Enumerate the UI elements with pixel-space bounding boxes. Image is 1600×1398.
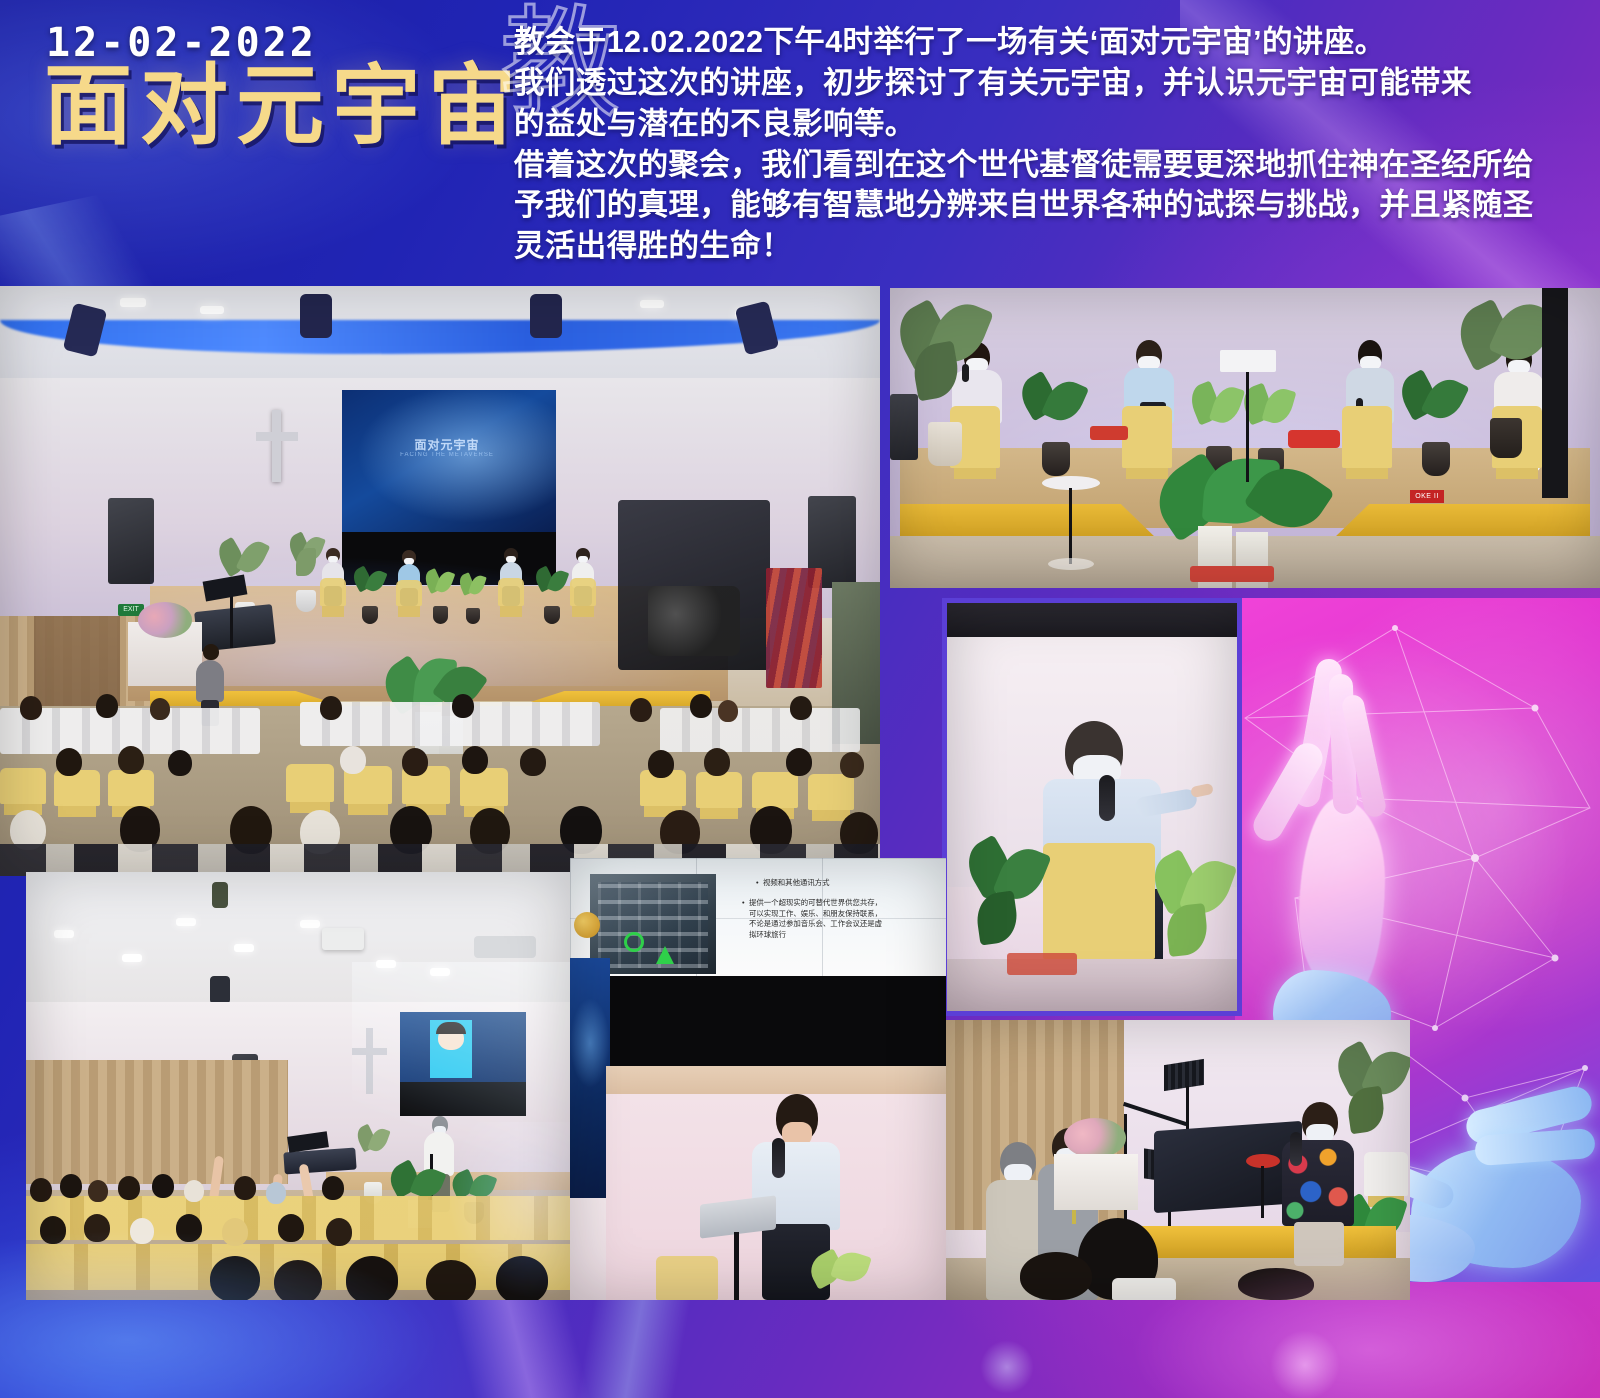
potted-plant-foreground (810, 1252, 880, 1300)
audience-rows (0, 686, 880, 876)
flower-arrangement (138, 602, 192, 638)
stage-light-fixture (210, 976, 230, 1004)
photo-congregation-hands-up: EXIT (26, 872, 570, 1300)
cross-wall-decor (366, 1028, 373, 1094)
cross-wall-decor-bar (352, 1048, 387, 1055)
led-screen-title: 面对元宇宙 (372, 436, 522, 453)
ceiling-light (234, 944, 254, 952)
red-bench (1190, 566, 1274, 582)
drum-kit (648, 586, 740, 656)
slide-thumb-shelves (598, 882, 708, 968)
screen-black-band (606, 976, 946, 1066)
black-pillar (1542, 288, 1568, 498)
blurb-line-6: 灵活出得胜的生命！ (514, 226, 1584, 267)
slide-bullet-2: •提供一个超现实的可替代世界供您共存，可以实现工作、娱乐、和朋友保持联系，不论是… (742, 898, 942, 940)
potted-monstera-1 (1022, 376, 1088, 476)
panel-chair (1342, 406, 1392, 468)
red-cloth (1007, 953, 1077, 975)
ceiling-light (120, 298, 146, 307)
slide-coin-icon (574, 912, 600, 938)
stool-leg (1261, 1166, 1264, 1218)
cross-wall-decor-bar (256, 432, 298, 441)
stage-chair (570, 578, 596, 606)
speaker-stage-floor (947, 959, 1237, 1016)
mic-stand-plate (1220, 350, 1276, 372)
cross-wall-decor (272, 410, 281, 482)
ceiling-light (640, 300, 664, 308)
wall-warm (606, 1066, 946, 1096)
microphone (1290, 1132, 1302, 1166)
projector (322, 928, 364, 950)
stage-light-fixture (300, 294, 332, 338)
floor-label-badge: OKE II (1410, 490, 1444, 503)
dark-screen-band (947, 603, 1237, 637)
congregation (26, 1152, 570, 1300)
ceiling-light (122, 954, 142, 962)
flags (766, 568, 822, 688)
microphone (772, 1138, 785, 1178)
speaker-chair (1043, 843, 1155, 959)
floor-lamp-pole (1069, 488, 1072, 564)
slide-thumb-green-ring (624, 932, 644, 952)
ceiling-light (430, 968, 450, 976)
ceiling-light (300, 920, 320, 928)
photo-hall-wide: 面对元宇宙 FACING THE METAVERSE EXIT (0, 286, 880, 876)
page-title: 面对元宇宙 (44, 60, 524, 152)
ceiling-light (200, 306, 224, 314)
ceiling-light (376, 960, 396, 968)
blurb-line-5: 予我们的真理，能够有智慧地分辨来自世界各种的试探与挑战，并且紧随圣 (514, 185, 1584, 226)
blurb-line-1: 教会于12.02.2022下午4时举行了一场有关‘面对元宇宙’的讲座。 (514, 22, 1584, 63)
poster-header: 12-02-2022 面对元宇宙 教 教会于12.02.2022下午4时举行了一… (0, 0, 1600, 288)
potted-plant (534, 568, 570, 624)
speaker-left (108, 498, 154, 584)
foreground-head-3 (1238, 1268, 1314, 1300)
photo-seated-speaker (942, 598, 1242, 1016)
photo-panel-four-speakers: OKE II (890, 288, 1600, 588)
stage-light-fixture (530, 294, 562, 338)
potted-plant (424, 570, 458, 624)
slide-bullet-1: •视频和其他通讯方式 (756, 878, 940, 889)
blurb-line-4: 借着这次的聚会，我们看到在这个世代基督徒需要更深地抓住神在圣经所给 (514, 145, 1584, 186)
led-screen-image (342, 390, 556, 532)
white-chair-front (1112, 1278, 1176, 1300)
flower-arrangement (1064, 1118, 1126, 1158)
cartoon-avatar-hair (436, 1022, 466, 1034)
slide-thumb-green-arrow (656, 946, 674, 964)
red-case (1288, 430, 1340, 448)
event-description: 教会于12.02.2022下午4时举行了一场有关‘面对元宇宙’的讲座。 我们透过… (514, 22, 1584, 267)
led-screen-black-band (400, 1082, 526, 1116)
chair-behind (656, 1256, 718, 1300)
keyboard-covered (1154, 1121, 1302, 1213)
potted-plant (352, 568, 388, 624)
ac-vent (474, 936, 536, 958)
poster-canvas: 12-02-2022 面对元宇宙 教 教会于12.02.2022下午4时举行了一… (0, 0, 1600, 1398)
bokeh-1 (1270, 1330, 1340, 1398)
white-chair (1364, 1152, 1408, 1196)
left-blue-screen-glow (570, 998, 610, 1088)
potted-monstera-2 (1402, 374, 1468, 476)
ceiling-light (176, 918, 196, 926)
potted-plant (458, 574, 490, 624)
mic-stand-center (1246, 362, 1249, 482)
lectern-pole (734, 1232, 739, 1300)
glowing-hand-upper (1245, 618, 1445, 1038)
led-screen-subtitle: FACING THE METAVERSE (372, 452, 522, 458)
potted-plant (286, 534, 326, 612)
stage-light-fixture (212, 882, 228, 908)
panel-speaker-box (890, 394, 918, 460)
ceiling-light (54, 930, 74, 938)
photo-presenter-with-slide: •视频和其他通讯方式 •提供一个超现实的可替代世界供您共存，可以实现工作、娱乐、… (570, 858, 946, 1300)
stage-chair (498, 578, 524, 606)
floor-lamp-base (1048, 558, 1094, 570)
microphone (1099, 775, 1115, 821)
blurb-line-3: 的益处与潜在的不良影响等。 (514, 104, 1584, 145)
flower-table (1054, 1154, 1138, 1210)
foreground-head-2 (1020, 1252, 1092, 1300)
panel-chair (1122, 406, 1172, 468)
photo-woman-with-microphone (946, 1020, 1410, 1300)
blurb-line-2: 我们透过这次的讲座，初步探讨了有关元宇宙，并认识元宇宙可能带来 (514, 63, 1584, 104)
woman-speaker (1282, 1102, 1356, 1266)
red-case (1090, 426, 1128, 440)
bokeh-2 (980, 1340, 1034, 1394)
stage-chair (396, 580, 422, 606)
